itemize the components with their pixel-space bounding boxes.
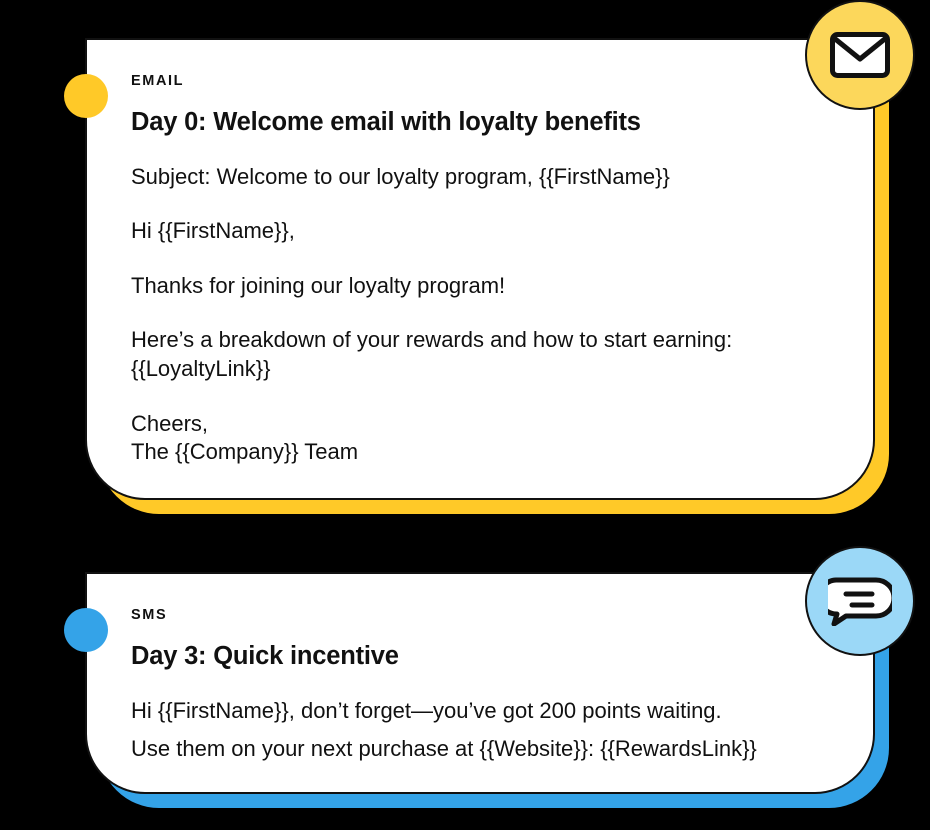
email-card-block: EMAIL Day 0: Welcome email with loyalty … — [85, 38, 875, 500]
email-card-content: EMAIL Day 0: Welcome email with loyalty … — [87, 40, 873, 497]
sms-channel-label: SMS — [131, 608, 829, 623]
envelope-icon — [805, 0, 915, 110]
email-card-title: Day 0: Welcome email with loyalty benefi… — [131, 107, 829, 137]
email-body-signoff: Cheers, The {{Company}} Team — [131, 410, 829, 467]
email-card[interactable]: EMAIL Day 0: Welcome email with loyalty … — [85, 38, 875, 500]
sms-card-title: Day 3: Quick incentive — [131, 641, 829, 671]
email-body-greeting: Hi {{FirstName}}, — [131, 217, 829, 246]
email-channel-label: EMAIL — [131, 74, 829, 89]
email-channel-dot — [64, 74, 108, 118]
email-body-subject: Subject: Welcome to our loyalty program,… — [131, 163, 829, 192]
email-body-breakdown: Here’s a breakdown of your rewards and h… — [131, 326, 829, 383]
sms-card-block: SMS Day 3: Quick incentive Hi {{FirstNam… — [85, 572, 875, 794]
sms-card-content: SMS Day 3: Quick incentive Hi {{FirstNam… — [87, 574, 873, 794]
sms-channel-dot — [64, 608, 108, 652]
campaign-sequence-canvas: EMAIL Day 0: Welcome email with loyalty … — [0, 0, 930, 830]
chat-bubble-icon — [805, 546, 915, 656]
email-body-thanks: Thanks for joining our loyalty program! — [131, 272, 829, 301]
sms-card[interactable]: SMS Day 3: Quick incentive Hi {{FirstNam… — [85, 572, 875, 794]
sms-body-line-1: Hi {{FirstName}}, don’t forget—you’ve go… — [131, 697, 829, 726]
sms-body-line-2: Use them on your next purchase at {{Webs… — [131, 735, 829, 764]
